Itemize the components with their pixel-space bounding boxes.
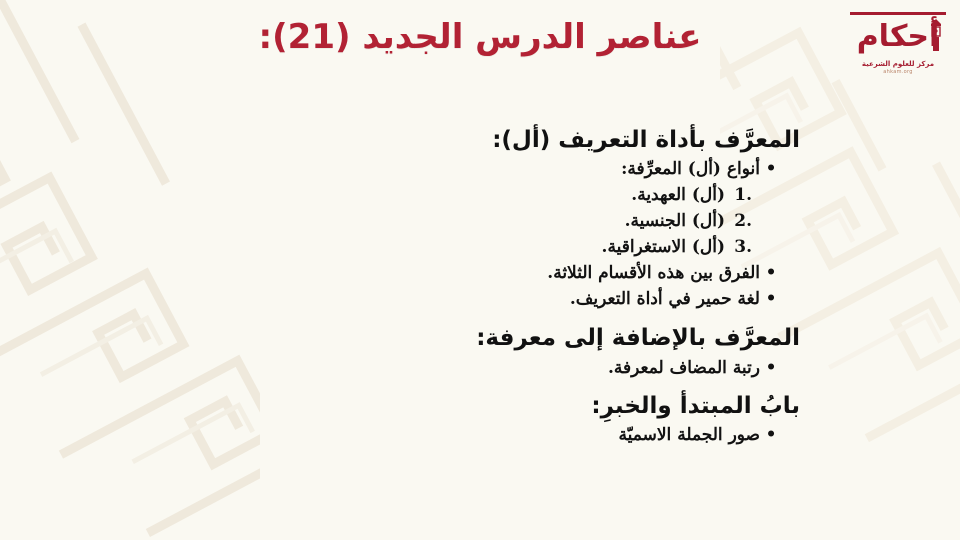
list-item-label: لغة حمير في أداة التعريف. xyxy=(570,289,760,309)
number-marker: 3. xyxy=(726,235,752,261)
slide-canvas: عناصر الدرس الجديد (21): أحكام مركز للعل… xyxy=(0,0,960,540)
bullet-marker: • xyxy=(760,261,782,287)
list-item-label: الفرق بين هذه الأقسام الثلاثة. xyxy=(547,263,760,283)
section-mubtada-khabar: بابُ المبتدأ والخبرِ: • صور الجملة الاسم… xyxy=(60,392,900,449)
numbered-list: 1. (أل) العهدية. 2. (أل) الجنسية. 3. (أل… xyxy=(60,183,900,260)
bullet-list-continued: • الفرق بين هذه الأقسام الثلاثة. • لغة ح… xyxy=(60,261,900,313)
list-item: • أنواع (أل) المعرِّفة: xyxy=(60,157,900,183)
list-item-label: رتبة المضاف لمعرفة. xyxy=(608,358,760,378)
list-item: • صور الجملة الاسميّة xyxy=(60,423,900,449)
bullet-marker: • xyxy=(760,287,782,313)
logo-url: ahkam.org xyxy=(850,69,946,75)
logo-mark: أحكام xyxy=(850,12,946,58)
list-item-label: صور الجملة الاسميّة xyxy=(619,425,760,445)
bullet-list: • أنواع (أل) المعرِّفة: xyxy=(60,157,900,183)
list-item: • لغة حمير في أداة التعريف. xyxy=(60,287,900,313)
slide-content: المعرَّف بأداة التعريف (أل): • أنواع (أل… xyxy=(60,126,900,450)
number-marker: 1. xyxy=(726,183,752,209)
minaret-icon xyxy=(928,18,944,52)
bullet-list: • رتبة المضاف لمعرفة. xyxy=(60,356,900,382)
list-item-label: (أل) العهدية. xyxy=(631,185,725,205)
list-item: • رتبة المضاف لمعرفة. xyxy=(60,356,900,382)
list-item: 3. (أل) الاستغراقية. xyxy=(60,235,900,261)
page-title: عناصر الدرس الجديد (21): xyxy=(0,16,960,59)
bullet-marker: • xyxy=(760,356,782,382)
section-heading: المعرَّف بأداة التعريف (أل): xyxy=(60,126,900,155)
section-idafa: المعرَّف بالإضافة إلى معرفة: • رتبة المض… xyxy=(60,324,900,381)
list-item: • الفرق بين هذه الأقسام الثلاثة. xyxy=(60,261,900,287)
section-heading: المعرَّف بالإضافة إلى معرفة: xyxy=(60,324,900,353)
brand-logo[interactable]: أحكام مركز للعلوم الشرعية ahkam.org xyxy=(850,12,946,75)
section-heading: بابُ المبتدأ والخبرِ: xyxy=(60,392,900,421)
bullet-marker: • xyxy=(760,157,782,183)
bullet-list: • صور الجملة الاسميّة xyxy=(60,423,900,449)
list-item: 1. (أل) العهدية. xyxy=(60,183,900,209)
bullet-marker: • xyxy=(760,423,782,449)
list-item-label: (أل) الاستغراقية. xyxy=(602,237,725,257)
section-definite-article: المعرَّف بأداة التعريف (أل): • أنواع (أل… xyxy=(60,126,900,312)
logo-subtitle: مركز للعلوم الشرعية xyxy=(850,60,946,68)
list-item-label: (أل) الجنسية. xyxy=(625,211,725,231)
list-item-label: أنواع (أل) المعرِّفة: xyxy=(621,159,760,179)
list-item: 2. (أل) الجنسية. xyxy=(60,209,900,235)
number-marker: 2. xyxy=(726,209,752,235)
